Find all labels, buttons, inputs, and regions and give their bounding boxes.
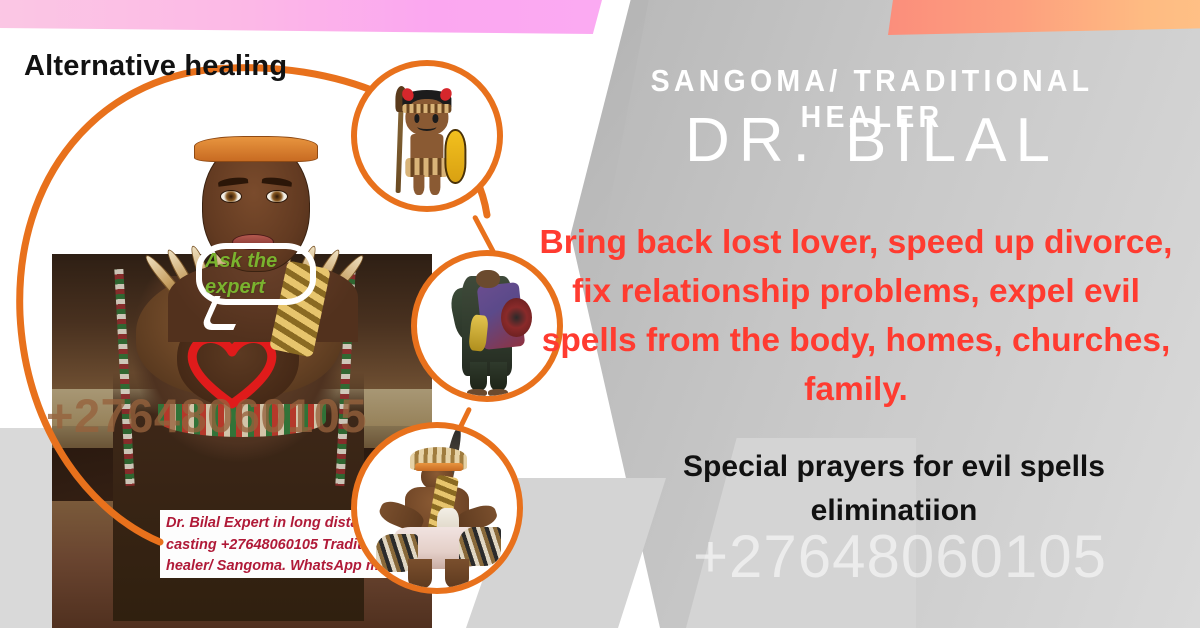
warrior-smile: [417, 123, 436, 132]
pink-accent-band: [0, 0, 602, 34]
phone-watermark: +27648060105: [600, 522, 1200, 591]
warrior-shield: [445, 129, 466, 184]
dancer-leg-right: [445, 559, 469, 588]
warrior-leg-right: [429, 175, 440, 195]
poster-canvas: +27648060105 Dr. Bilal Expert in long di…: [0, 0, 1200, 628]
warrior-headband: [403, 104, 452, 113]
healer-eye-left: [220, 190, 242, 203]
brand-name: DR. BILAL: [562, 103, 1182, 179]
subheading-text: Special prayers for evil spells eliminat…: [600, 445, 1188, 533]
circle-photo-crouching-traditional-dancer: [351, 422, 523, 594]
circle-photo-cartoon-zulu-warrior: [351, 60, 503, 212]
figure-leg-right: [490, 362, 507, 390]
warrior-skirt: [406, 158, 448, 178]
dancer-crown-band: [415, 463, 463, 471]
figure-head: [476, 270, 500, 288]
healer-headband: [194, 136, 318, 162]
warrior-leg-left: [413, 175, 424, 195]
warrior-figure: [386, 86, 467, 195]
figure-shoe-right: [488, 389, 508, 397]
healer-eye-right: [266, 190, 288, 203]
speech-bubble-text: Ask the expert: [205, 248, 315, 300]
warrior-eye-right: [433, 114, 439, 123]
figure-leg-left: [470, 362, 487, 390]
figure-round-shield: [501, 298, 532, 337]
services-text: Bring back lost lover, speed up divorce,…: [536, 218, 1176, 414]
bottom-left-gray-strip: [0, 428, 56, 628]
dancer-leg-left: [408, 559, 432, 588]
figure-shoe-left: [467, 389, 487, 397]
page-title: Alternative healing: [24, 50, 287, 83]
